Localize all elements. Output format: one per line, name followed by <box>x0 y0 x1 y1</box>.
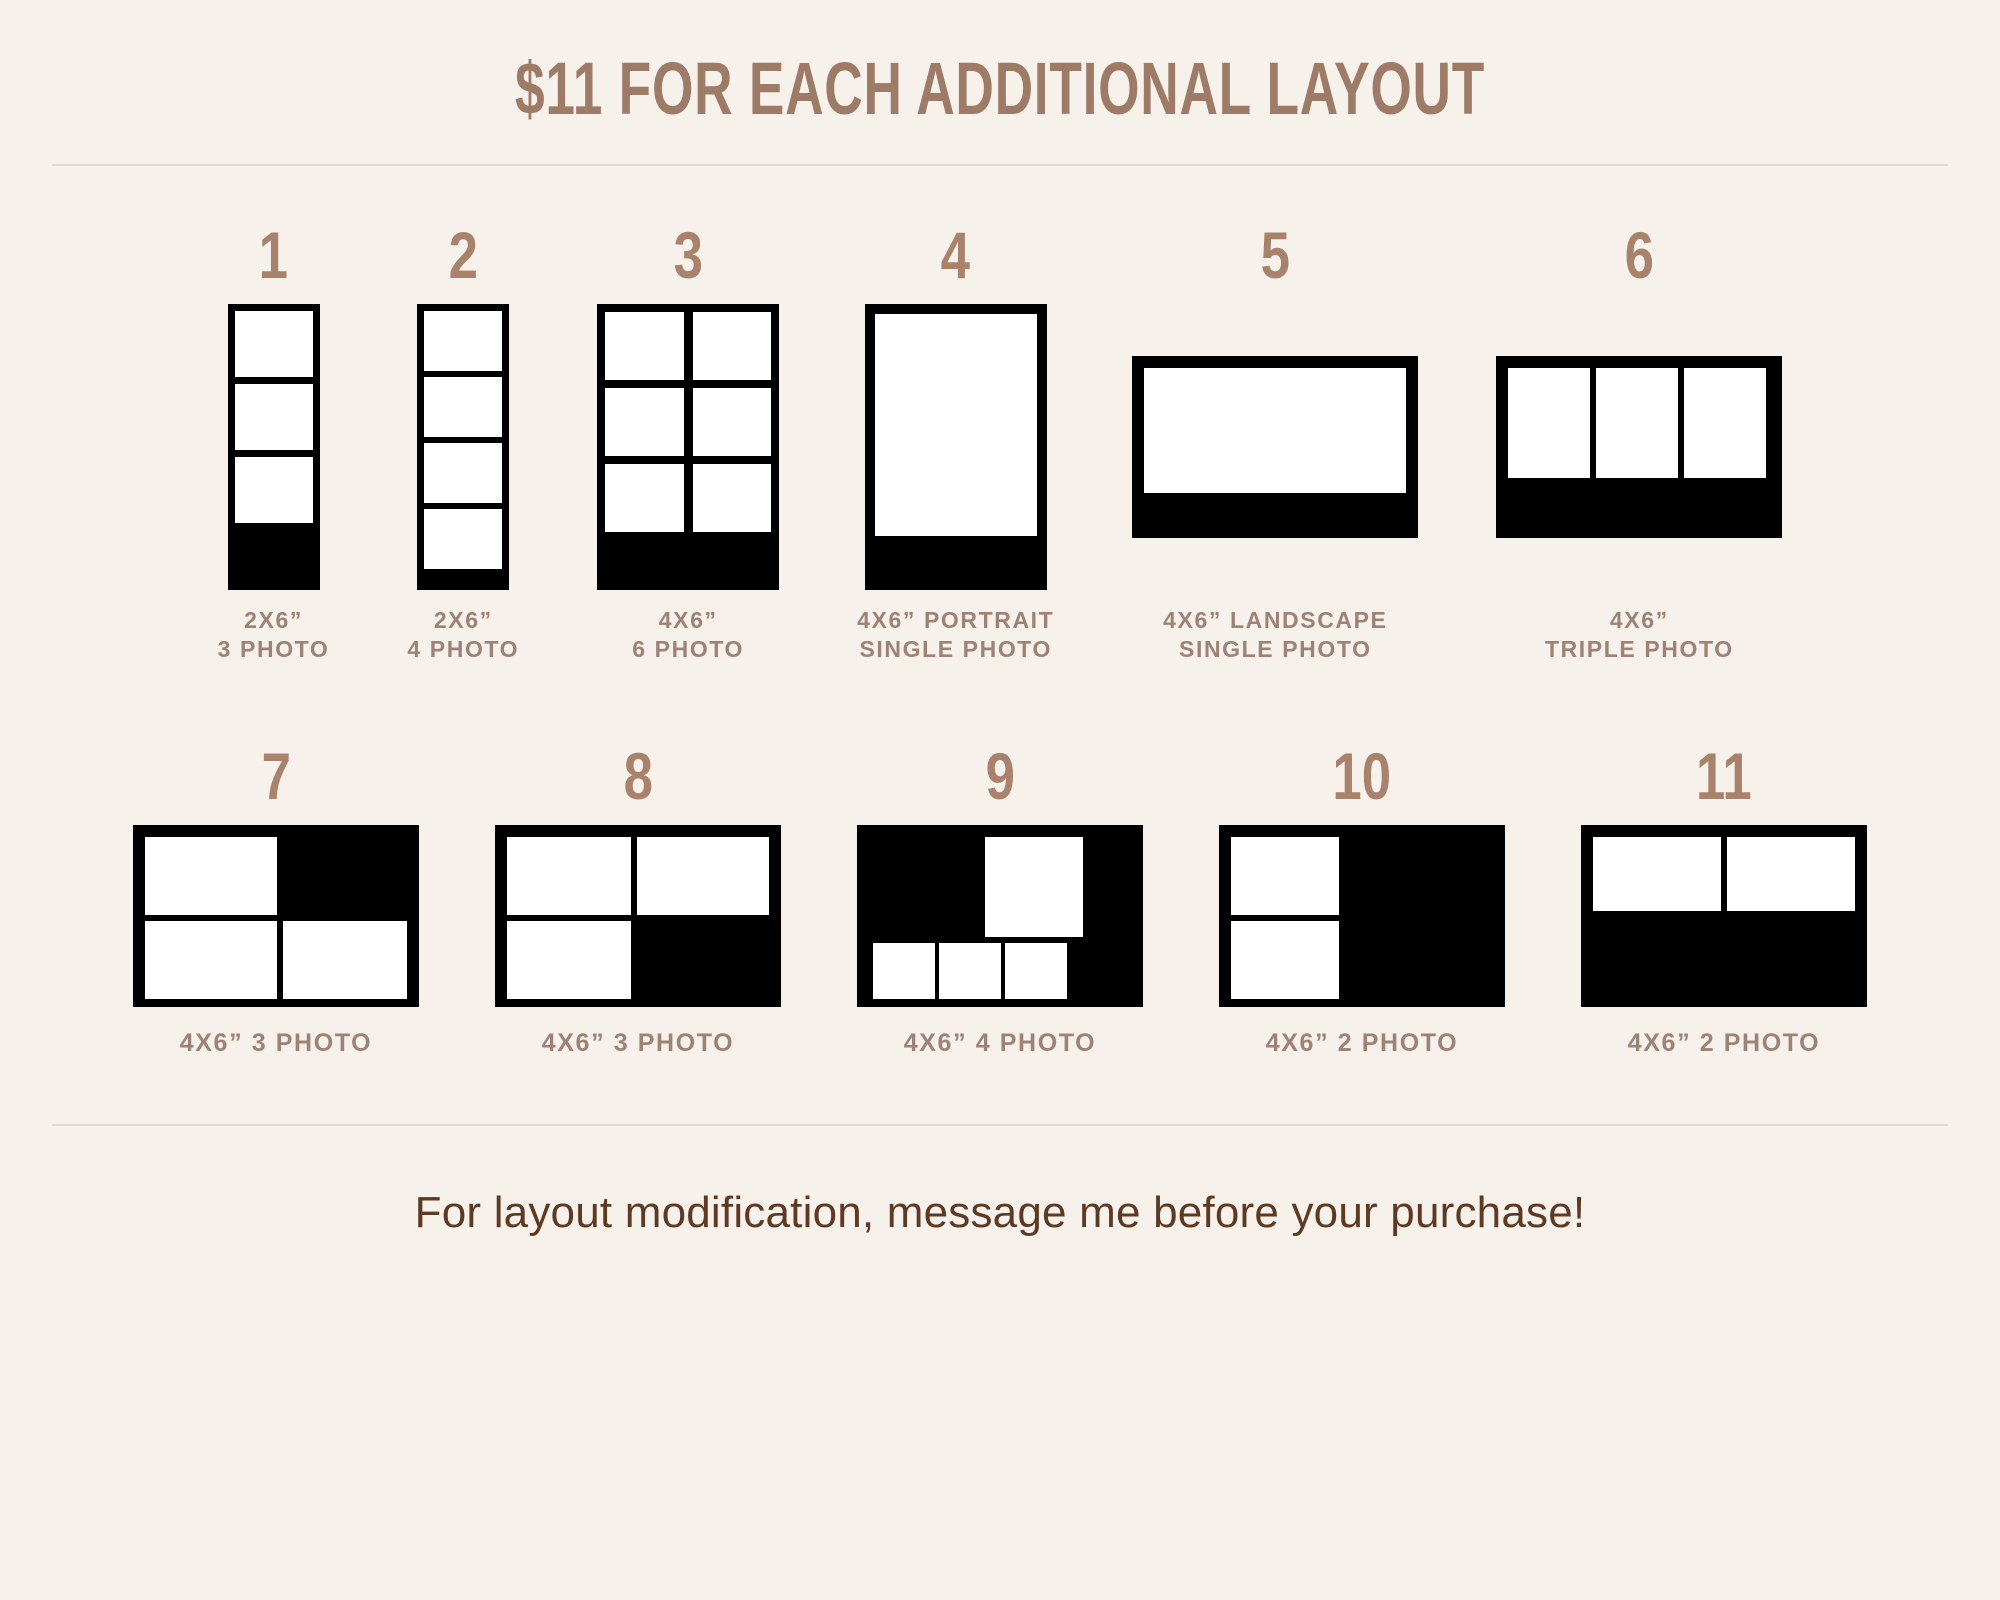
photo-grid-row <box>605 388 771 456</box>
layout-card-8[interactable]: 8 4X6” 3 PHOTO <box>495 743 781 1058</box>
photo-slot <box>424 509 502 569</box>
layout-preview-1 <box>228 304 320 590</box>
layout-number-4: 4 <box>941 222 970 288</box>
photo-slot <box>507 837 631 915</box>
layout-card-3[interactable]: 3 4X6” <box>597 222 779 665</box>
photo-slot <box>1593 837 1721 911</box>
layout-card-1[interactable]: 1 2X6” 3 PHOTO <box>218 222 330 665</box>
layout-caption-4: 4X6” PORTRAIT SINGLE PHOTO <box>857 606 1054 665</box>
layout-caption-3: 4X6” 6 PHOTO <box>632 606 744 665</box>
page-title: $11 FOR EACH ADDITIONAL LAYOUT <box>280 0 1720 126</box>
photo-slot <box>875 314 1037 536</box>
layout-caption-11: 4X6” 2 PHOTO <box>1628 1029 1820 1058</box>
photo-slot <box>605 464 684 532</box>
layout-row-2: 7 4X6” 3 PHOTO 8 4X6” 3 PHOTO 9 <box>0 743 2000 1058</box>
photo-slot <box>693 464 772 532</box>
photo-slot <box>985 837 1083 937</box>
photo-grid-row <box>1508 368 1770 478</box>
layout-caption-8: 4X6” 3 PHOTO <box>542 1029 734 1058</box>
photo-slot <box>424 377 502 437</box>
photo-slot <box>1727 837 1855 911</box>
photo-slot <box>939 943 1001 999</box>
photo-slot <box>283 921 407 999</box>
layout-card-7[interactable]: 7 4X6” 3 PHOTO <box>133 743 419 1058</box>
frame-footer <box>1144 493 1406 538</box>
photo-slot <box>1231 921 1339 999</box>
photo-slot <box>1231 837 1339 915</box>
layout-caption-9: 4X6” 4 PHOTO <box>904 1029 1096 1058</box>
layout-preview-2 <box>417 304 509 590</box>
photo-slot <box>1005 943 1067 999</box>
layout-card-11[interactable]: 11 4X6” 2 PHOTO <box>1581 743 1867 1058</box>
photo-slot <box>235 311 313 377</box>
photo-grid-row <box>605 464 771 532</box>
photo-slot <box>693 312 772 380</box>
photo-slot <box>637 837 769 915</box>
layout-preview-8 <box>495 825 781 1007</box>
layout-caption-6: 4X6” TRIPLE PHOTO <box>1545 606 1734 665</box>
photo-slot <box>693 388 772 456</box>
photo-slot <box>145 837 277 915</box>
layout-caption-1: 2X6” 3 PHOTO <box>218 606 330 665</box>
photo-slot <box>507 921 631 999</box>
layout-preview-11 <box>1581 825 1867 1007</box>
photo-grid-row <box>605 312 771 380</box>
divider-bottom <box>52 1124 1948 1126</box>
frame-footer <box>605 540 771 590</box>
photo-slot <box>424 443 502 503</box>
layout-card-5[interactable]: 5 4X6” LANDSCAPE SINGLE PHOTO <box>1132 222 1418 665</box>
layout-number-7: 7 <box>261 743 290 809</box>
photo-slot <box>1144 368 1406 493</box>
photo-slot <box>424 311 502 371</box>
layout-number-9: 9 <box>985 743 1014 809</box>
layout-preview-5 <box>1132 356 1418 538</box>
frame-footer <box>875 536 1037 590</box>
layout-card-6[interactable]: 6 4X6” TRIPLE PHOTO <box>1496 222 1782 665</box>
photo-slot <box>605 312 684 380</box>
layout-card-2[interactable]: 2 2X6” 4 PHOTO <box>407 222 519 665</box>
layout-caption-7: 4X6” 3 PHOTO <box>180 1029 372 1058</box>
photo-slot <box>235 457 313 523</box>
photo-slot <box>1684 368 1766 478</box>
layout-number-1: 1 <box>259 222 288 288</box>
photo-slot <box>145 921 277 999</box>
layout-price-sheet: $11 FOR EACH ADDITIONAL LAYOUT 1 2X6” 3 … <box>0 0 2000 1600</box>
layout-row-1: 1 2X6” 3 PHOTO 2 <box>0 222 2000 665</box>
layout-card-4[interactable]: 4 4X6” PORTRAIT SINGLE PHOTO <box>857 222 1054 665</box>
photo-slot <box>605 388 684 456</box>
layout-number-6: 6 <box>1625 222 1654 288</box>
layout-preview-9 <box>857 825 1143 1007</box>
layout-number-3: 3 <box>673 222 702 288</box>
layout-number-11: 11 <box>1696 743 1752 809</box>
layout-preview-6 <box>1496 356 1782 538</box>
layout-card-10[interactable]: 10 4X6” 2 PHOTO <box>1219 743 1505 1058</box>
photo-slot <box>1508 368 1590 478</box>
frame-footer <box>1508 478 1770 538</box>
photo-slot <box>235 384 313 450</box>
layout-card-9[interactable]: 9 4X6” 4 PHOTO <box>857 743 1143 1058</box>
layout-number-10: 10 <box>1333 743 1392 809</box>
layout-preview-4 <box>865 304 1047 590</box>
layout-number-8: 8 <box>623 743 652 809</box>
frame-footer <box>424 575 502 590</box>
layout-caption-10: 4X6” 2 PHOTO <box>1266 1029 1458 1058</box>
layout-caption-5: 4X6” LANDSCAPE SINGLE PHOTO <box>1163 606 1387 665</box>
photo-slot <box>873 943 935 999</box>
frame-footer <box>235 530 313 590</box>
footer-note: For layout modification, message me befo… <box>0 1188 2000 1238</box>
layout-caption-2: 2X6” 4 PHOTO <box>407 606 519 665</box>
divider-top <box>52 164 1948 166</box>
photo-slot <box>1596 368 1678 478</box>
layout-preview-10 <box>1219 825 1505 1007</box>
layout-number-2: 2 <box>449 222 478 288</box>
layout-preview-3 <box>597 304 779 590</box>
layout-preview-7 <box>133 825 419 1007</box>
layout-number-5: 5 <box>1261 222 1290 288</box>
